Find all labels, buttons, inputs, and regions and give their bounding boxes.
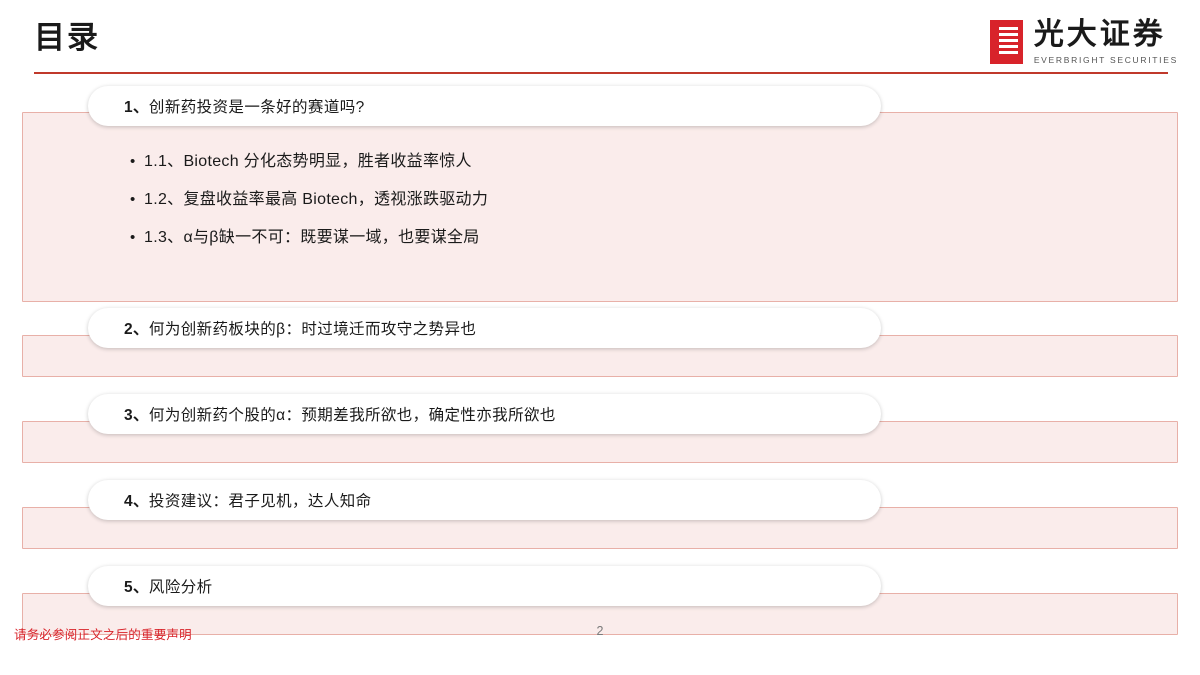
section-1-header[interactable]: 1、创新药投资是一条好的赛道吗? bbox=[88, 86, 881, 126]
everbright-logo-icon bbox=[990, 20, 1023, 64]
section-2-title: 何为创新药板块的β：时过境迁而攻守之势异也 bbox=[149, 321, 476, 338]
page-title: 目录 bbox=[34, 22, 100, 53]
section-5-header[interactable]: 5、风险分析 bbox=[88, 566, 881, 606]
title-divider bbox=[34, 72, 1168, 74]
section-1-subitems: •1.1、Biotech 分化态势明显，胜者收益率惊人 •1.2、复盘收益率最高… bbox=[130, 154, 488, 268]
subitem-1-2[interactable]: •1.2、复盘收益率最高 Biotech，透视涨跌驱动力 bbox=[130, 192, 488, 208]
bullet-icon: • bbox=[130, 154, 144, 169]
section-1-title: 创新药投资是一条好的赛道吗? bbox=[149, 99, 365, 116]
slide-header: 目录 光大证券 EVERBRIGHT SECURITIES bbox=[0, 0, 1200, 80]
section-3-header[interactable]: 3、何为创新药个股的α：预期差我所欲也，确定性亦我所欲也 bbox=[88, 394, 881, 434]
subitem-1-3[interactable]: •1.3、α与β缺一不可：既要谋一域，也要谋全局 bbox=[130, 230, 488, 246]
logo-name-cn: 光大证券 bbox=[1034, 19, 1178, 51]
section-4-title: 投资建议：君子见机，达人知命 bbox=[149, 493, 372, 510]
section-4-header[interactable]: 4、投资建议：君子见机，达人知命 bbox=[88, 480, 881, 520]
section-5-title: 风险分析 bbox=[149, 579, 213, 596]
section-2-number: 2、 bbox=[124, 321, 149, 338]
subitem-1-2-label: 1.2、复盘收益率最高 Biotech，透视涨跌驱动力 bbox=[144, 191, 488, 208]
section-1-number: 1、 bbox=[124, 99, 149, 116]
company-logo: 光大证券 EVERBRIGHT SECURITIES bbox=[990, 16, 1178, 68]
section-3-title: 何为创新药个股的α：预期差我所欲也，确定性亦我所欲也 bbox=[149, 407, 556, 424]
section-3-number: 3、 bbox=[124, 407, 149, 424]
bullet-icon: • bbox=[130, 192, 144, 207]
section-4-number: 4、 bbox=[124, 493, 149, 510]
bullet-icon: • bbox=[130, 230, 144, 245]
subitem-1-1-label: 1.1、Biotech 分化态势明显，胜者收益率惊人 bbox=[144, 153, 472, 170]
subitem-1-1[interactable]: •1.1、Biotech 分化态势明显，胜者收益率惊人 bbox=[130, 154, 488, 170]
section-5-number: 5、 bbox=[124, 579, 149, 596]
section-2-header[interactable]: 2、何为创新药板块的β：时过境迁而攻守之势异也 bbox=[88, 308, 881, 348]
logo-name-en: EVERBRIGHT SECURITIES bbox=[1034, 55, 1178, 65]
subitem-1-3-label: 1.3、α与β缺一不可：既要谋一域，也要谋全局 bbox=[144, 229, 480, 246]
page-number: 2 bbox=[0, 624, 1200, 638]
logo-text: 光大证券 EVERBRIGHT SECURITIES bbox=[1034, 19, 1178, 64]
